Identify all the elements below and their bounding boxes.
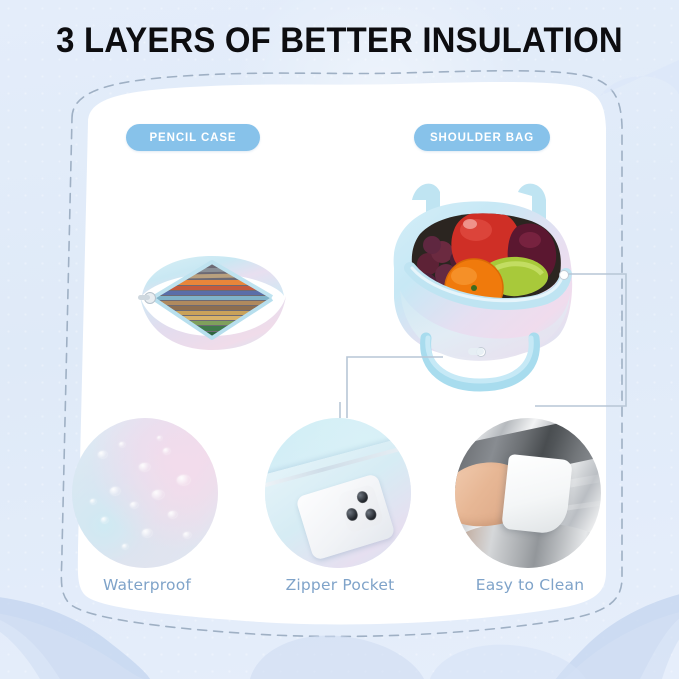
infographic-root: 3 LAYERS OF BETTER INSULATION PENCIL CAS…: [0, 0, 679, 679]
zipper-pocket-phone-photo: [265, 418, 411, 568]
badge-shoulder-bag[interactable]: SHOULDER BAG: [414, 124, 550, 151]
shoulder-bag-product-photo: [368, 172, 596, 400]
waterproof-fabric-droplets-photo: [72, 418, 218, 568]
feature-label-waterproof: Waterproof: [72, 576, 222, 594]
feature-waterproof[interactable]: Waterproof: [72, 418, 222, 594]
feature-zipper-pocket[interactable]: Zipper Pocket: [265, 418, 415, 594]
pencil-case-product-photo: [112, 240, 312, 360]
feature-easy-clean[interactable]: Easy to Clean: [455, 418, 605, 594]
feature-label-easy-clean: Easy to Clean: [455, 576, 605, 594]
easy-to-clean-foil-lining-photo: [455, 418, 601, 568]
page-title: 3 LAYERS OF BETTER INSULATION: [20, 20, 658, 62]
bag-main-zipper-pull: [560, 271, 569, 280]
badge-pencil-case[interactable]: PENCIL CASE: [126, 124, 260, 151]
feature-label-zipper-pocket: Zipper Pocket: [265, 576, 415, 594]
